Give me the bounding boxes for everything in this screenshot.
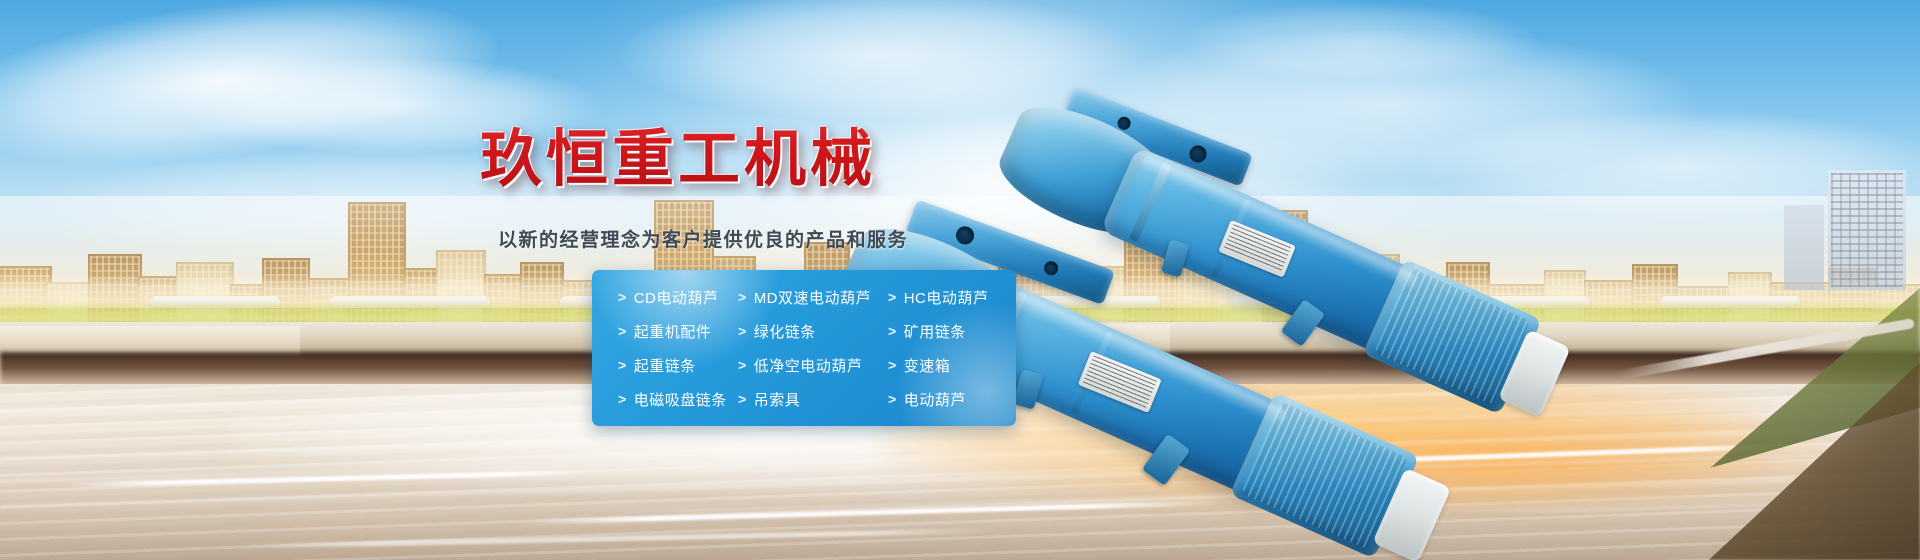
chevron-right-icon: > [888,289,897,305]
product-category-label: 起重机配件 [634,321,712,342]
chevron-right-icon: > [738,289,747,305]
product-category-label: 吊索具 [754,389,801,410]
banner-subtitle: 以新的经营理念为客户提供优良的产品和服务 [498,225,908,252]
product-category-label: 起重链条 [634,355,696,376]
product-category-link[interactable]: >起重机配件 [618,321,738,342]
product-category-link[interactable]: >HC电动葫芦 [888,287,1008,308]
product-category-label: 电动葫芦 [904,389,966,410]
chevron-right-icon: > [738,391,747,407]
product-category-link[interactable]: >电动葫芦 [888,389,1008,410]
product-category-label: 低净空电动葫芦 [754,355,863,376]
product-category-link[interactable]: >电磁吸盘链条 [618,389,738,410]
product-category-link[interactable]: >CD电动葫芦 [618,287,738,308]
product-category-link[interactable]: >起重链条 [618,355,738,376]
product-category-row: >CD电动葫芦>MD双速电动葫芦>HC电动葫芦 [592,280,1016,314]
product-category-link[interactable]: >矿用链条 [888,321,1008,342]
chevron-right-icon: > [618,357,627,373]
product-category-panel: >CD电动葫芦>MD双速电动葫芦>HC电动葫芦>起重机配件>绿化链条>矿用链条>… [592,270,1016,426]
right-tower [1828,170,1906,290]
product-category-label: CD电动葫芦 [634,287,719,308]
chevron-right-icon: > [618,289,627,305]
chevron-right-icon: > [888,391,897,407]
product-category-label: 矿用链条 [904,321,966,342]
product-category-label: 变速箱 [904,355,951,376]
chevron-right-icon: > [888,323,897,339]
promo-banner: 玖恒重工机械 以新的经营理念为客户提供优良的产品和服务 >CD电动葫芦>MD双速… [0,0,1920,560]
product-category-row: >起重链条>低净空电动葫芦>变速箱 [592,348,1016,382]
chevron-right-icon: > [618,391,627,407]
product-category-link[interactable]: >吊索具 [738,389,888,410]
product-category-link[interactable]: >变速箱 [888,355,1008,376]
right-tower-small [1784,205,1824,290]
product-category-row: >电磁吸盘链条>吊索具>电动葫芦 [592,382,1016,416]
product-category-label: 电磁吸盘链条 [634,389,727,410]
product-category-label: HC电动葫芦 [904,287,989,308]
product-category-label: 绿化链条 [754,321,816,342]
chevron-right-icon: > [888,357,897,373]
chevron-right-icon: > [618,323,627,339]
product-category-list: >CD电动葫芦>MD双速电动葫芦>HC电动葫芦>起重机配件>绿化链条>矿用链条>… [592,270,1016,426]
page-title: 玖恒重工机械 [480,108,876,198]
product-category-label: MD双速电动葫芦 [754,287,871,308]
product-category-row: >起重机配件>绿化链条>矿用链条 [592,314,1016,348]
chevron-right-icon: > [738,323,747,339]
product-category-link[interactable]: >低净空电动葫芦 [738,355,888,376]
product-category-link[interactable]: >绿化链条 [738,321,888,342]
product-category-link[interactable]: >MD双速电动葫芦 [738,287,888,308]
chevron-right-icon: > [738,357,747,373]
